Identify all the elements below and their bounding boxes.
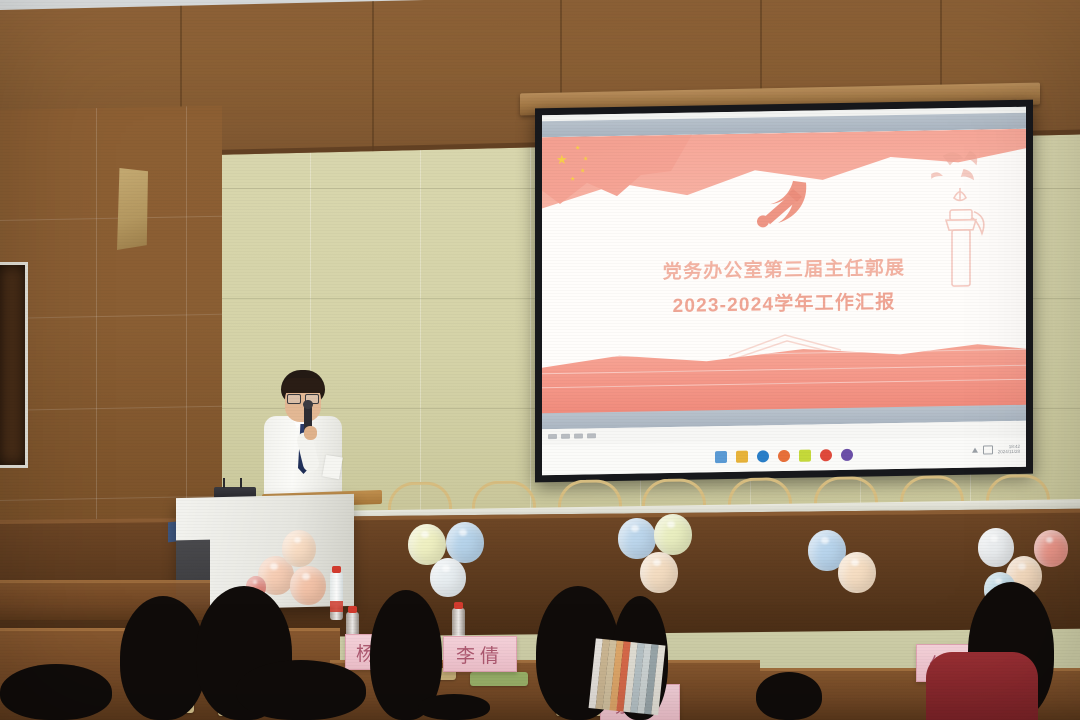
balloon-peach bbox=[290, 566, 326, 605]
wall-patch bbox=[117, 168, 148, 250]
balloon-white bbox=[978, 528, 1014, 567]
balloon-cream bbox=[640, 552, 678, 593]
presenter-fringe bbox=[282, 378, 324, 393]
monument-with-doves-icon bbox=[924, 147, 1002, 298]
balloon-cream bbox=[838, 552, 876, 593]
water-bottle bbox=[330, 572, 343, 620]
doorway bbox=[0, 262, 28, 468]
chrome-icon[interactable] bbox=[778, 450, 790, 462]
guest-red-coat bbox=[926, 652, 1038, 720]
folder-icon[interactable] bbox=[736, 451, 748, 463]
striped-scarf bbox=[589, 638, 670, 715]
left-wood-wall bbox=[0, 106, 222, 540]
clock-date: 2024/11/28 bbox=[998, 449, 1020, 455]
audience-head bbox=[0, 664, 112, 720]
photo-scene: ★ ★ ★ ★ ★ 党务办公室第三届主任郭展 2023-2024学年工作汇报 bbox=[0, 0, 1080, 720]
status-bar-left-controls[interactable] bbox=[548, 433, 596, 439]
qq-icon[interactable] bbox=[820, 449, 832, 461]
audience-head bbox=[120, 596, 206, 720]
tray-chevron-icon[interactable] bbox=[972, 447, 978, 452]
hammer-and-sickle-icon bbox=[748, 174, 820, 237]
namecard-liqian: 李倩 bbox=[443, 636, 517, 672]
tray-network-icon[interactable] bbox=[983, 445, 993, 454]
snack-item bbox=[470, 672, 528, 686]
audience-head bbox=[756, 672, 822, 720]
explorer-icon[interactable] bbox=[715, 451, 727, 463]
balloon-white bbox=[430, 558, 466, 597]
edge-icon[interactable] bbox=[757, 450, 769, 462]
presenter-hand bbox=[304, 426, 317, 440]
balloon-cream bbox=[282, 530, 316, 567]
balloon-yellow bbox=[654, 514, 692, 555]
slide-canvas: ★ ★ ★ ★ ★ 党务办公室第三届主任郭展 2023-2024学年工作汇报 bbox=[542, 129, 1026, 415]
media-player-icon[interactable] bbox=[841, 449, 853, 461]
audience-head bbox=[418, 694, 490, 720]
wechat-icon[interactable] bbox=[799, 450, 811, 462]
balloon-blue bbox=[446, 522, 484, 563]
projection-screen-frame: ★ ★ ★ ★ ★ 党务办公室第三届主任郭展 2023-2024学年工作汇报 bbox=[535, 100, 1033, 483]
taskbar-tray[interactable]: 18:42 2024/11/28 bbox=[972, 444, 1020, 455]
taskbar-clock[interactable]: 18:42 2024/11/28 bbox=[998, 444, 1020, 455]
projection-screen-surface: ★ ★ ★ ★ ★ 党务办公室第三届主任郭展 2023-2024学年工作汇报 bbox=[542, 107, 1026, 475]
audience-head bbox=[236, 660, 366, 720]
balloon-coral bbox=[1034, 530, 1068, 567]
